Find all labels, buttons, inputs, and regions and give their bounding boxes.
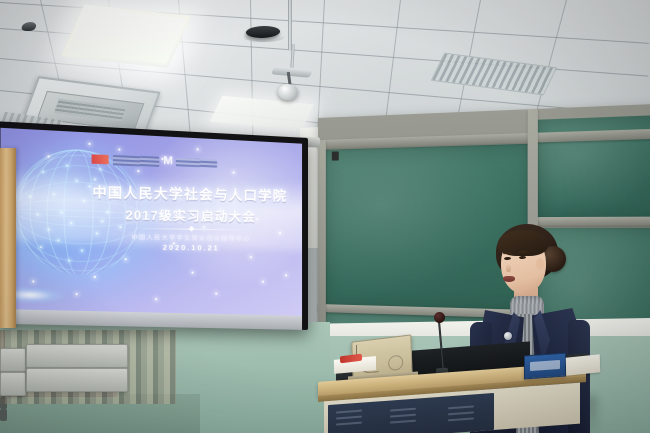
radiator-panel [0,348,26,372]
presenter-ear [536,258,544,270]
blue-box [524,353,566,380]
logo-mark: M [163,156,172,168]
projection-screen: M 中国人民大学社会与人口学院 2017级实习启动大会 中国人民大学学生就业创业… [0,121,308,330]
lapel-pin-icon [504,332,512,340]
ceiling-light-panel [61,4,191,68]
projector-mount-pole [288,0,292,50]
presenter-nose [506,264,511,272]
projector-icon [278,84,298,100]
logo-tail-bars [176,158,217,167]
logo-text-bars [113,155,159,167]
screen-surface: M 中国人民大学社会与人口学院 2017级实习启动大会 中国人民大学学生就业创业… [0,128,302,316]
papers [566,354,601,376]
slide-title: 中国人民大学社会与人口学院 [88,185,290,205]
microphone-icon [434,312,445,323]
blue-box-label [530,360,560,371]
radiator-panel [26,344,128,368]
slide-subtitle: 2017级实习启动大会 [88,203,290,226]
slide-text-block: 中国人民大学社会与人口学院 2017级实习启动大会 中国人民大学学生就业创业指导… [88,185,290,253]
slide-organization: 中国人民大学学生就业创业指导中心 [88,231,290,243]
logo-red-block [92,154,109,164]
wall-pillar [0,148,16,328]
photo-scene: M 中国人民大学社会与人口学院 2017级实习启动大会 中国人民大学学生就业创业… [0,0,650,433]
radiator-panel [26,368,128,392]
blackboard-clip [332,151,339,160]
slide-divider [132,228,249,231]
radiator [0,330,176,404]
presenter-mouth [503,276,515,282]
radiator-panel [0,372,26,396]
radiator-valve [0,409,7,421]
